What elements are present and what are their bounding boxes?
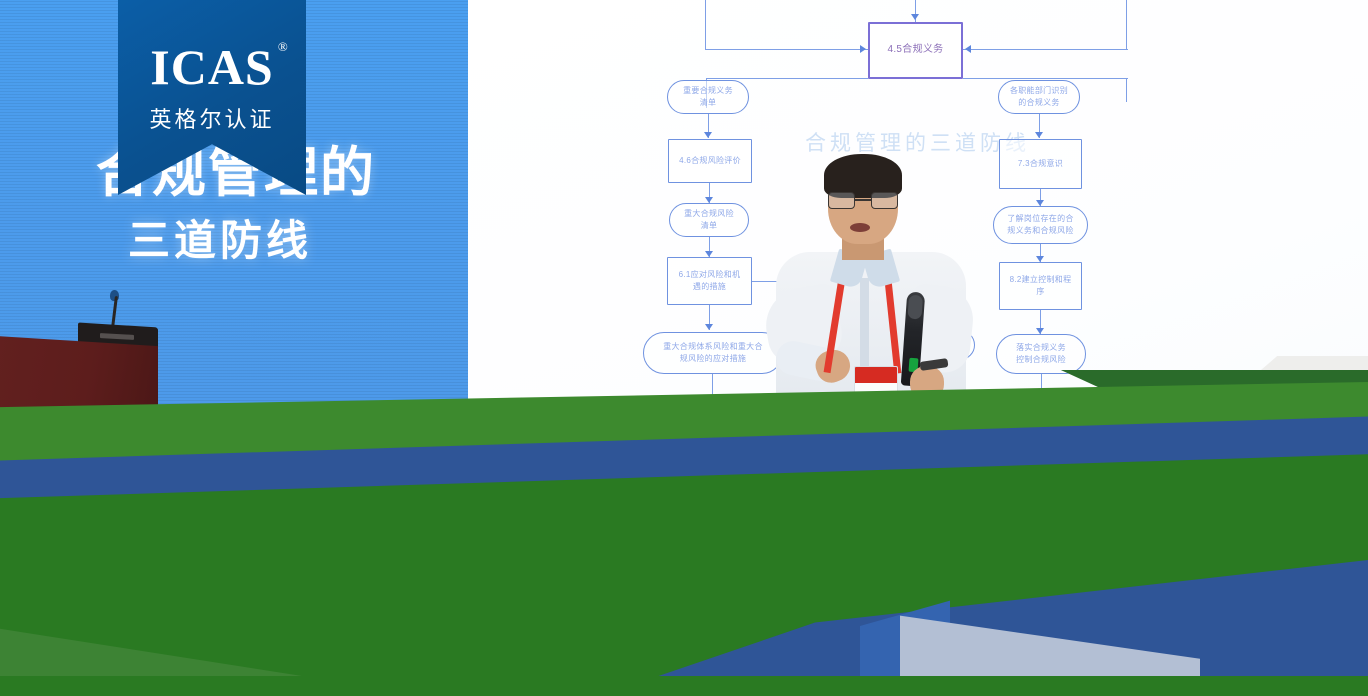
icas-wordmark-text: ICAS <box>150 39 273 95</box>
icas-wordmark: ICAS ® <box>150 42 273 92</box>
flow-arrow-icon <box>1035 132 1043 138</box>
badge-header-strip <box>855 367 897 383</box>
flow-node-right-4: 落实合规义务 控制合规风险 <box>996 334 1086 374</box>
flow-arrow-icon <box>860 45 866 53</box>
overlay-bottom-edge <box>0 676 1368 696</box>
flow-node-right-3: 8.2建立控制和程 序 <box>999 262 1082 310</box>
flow-arrow-icon <box>705 324 713 330</box>
flow-line <box>705 0 706 50</box>
screenshot-stage: 合规管理的 三道防线 合规管理的三道防线 4.5合规义务 重要合规义务 清单 4… <box>0 0 1368 696</box>
flow-arrow-icon <box>911 14 919 20</box>
flow-node-right-1: 7.3合规意识 <box>999 139 1082 189</box>
flow-node-left-1: 4.6合规风险评价 <box>668 139 752 183</box>
flow-line <box>1126 78 1127 102</box>
flow-arrow-icon <box>965 45 971 53</box>
speaker-mouth <box>850 223 870 232</box>
flow-node-right-2: 了解岗位存在的合 规义务和合规风险 <box>993 206 1088 244</box>
flow-arrow-icon <box>704 132 712 138</box>
flow-node-left-4: 重大合规体系风险和重大合 规风险的应对措施 <box>643 332 783 374</box>
eyeglass-bridge <box>855 199 871 201</box>
icas-chinese-subtitle: 英格尔认证 <box>149 102 274 134</box>
flow-line <box>705 49 868 50</box>
eyeglass-lens-left <box>828 192 855 209</box>
flow-node-main: 4.5合规义务 <box>868 22 963 79</box>
flow-node-right-0: 各职能部门识别 的合规义务 <box>998 80 1080 114</box>
eyeglass-lens-right <box>871 192 898 209</box>
flow-node-left-0: 重要合规义务 清单 <box>667 80 749 114</box>
flow-line <box>1126 0 1127 50</box>
flow-node-left-2: 重大合规风险 清单 <box>669 203 749 237</box>
registered-trademark-icon: ® <box>278 40 289 53</box>
speaker-eyeglasses-icon <box>828 192 898 209</box>
wall-title-line2: 三道防线 <box>128 207 448 268</box>
flow-line <box>963 49 1128 50</box>
flow-node-left-3: 6.1应对风险和机 遇的措施 <box>667 257 752 305</box>
